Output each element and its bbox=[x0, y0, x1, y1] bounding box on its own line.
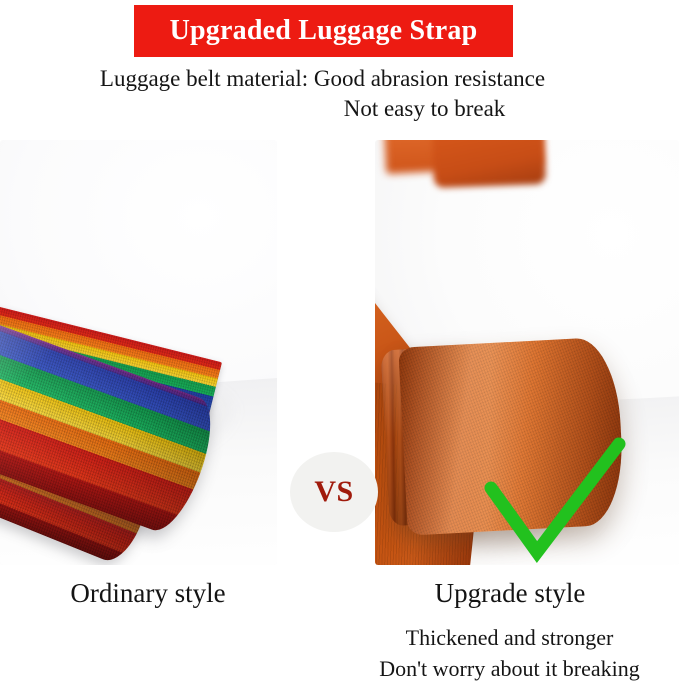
subtitle-line-2: Not easy to break bbox=[0, 94, 679, 124]
product-photo-ordinary bbox=[0, 140, 277, 565]
check-icon bbox=[479, 436, 629, 564]
upgrade-strap-scene bbox=[375, 140, 679, 565]
product-photo-upgrade bbox=[375, 140, 679, 565]
title-banner: Upgraded Luggage Strap bbox=[134, 5, 513, 57]
subtitle-block: Luggage belt material: Good abrasion res… bbox=[0, 64, 679, 124]
vs-label: VS bbox=[314, 477, 353, 507]
page-title: Upgraded Luggage Strap bbox=[170, 17, 478, 45]
caption-ordinary-style: Ordinary style bbox=[0, 575, 296, 611]
background-strap-blurred bbox=[432, 140, 546, 188]
note-line-1: Thickened and stronger bbox=[340, 622, 679, 653]
caption-upgrade-style: Upgrade style bbox=[360, 575, 660, 611]
bottom-notes: Thickened and stronger Don't worry about… bbox=[340, 622, 679, 684]
comparison-photo-row: VS bbox=[0, 140, 679, 565]
subtitle-line-1: Luggage belt material: Good abrasion res… bbox=[0, 64, 679, 94]
note-line-2: Don't worry about it breaking bbox=[340, 653, 679, 684]
ordinary-strap-scene bbox=[0, 140, 277, 565]
vs-badge: VS bbox=[290, 452, 378, 532]
